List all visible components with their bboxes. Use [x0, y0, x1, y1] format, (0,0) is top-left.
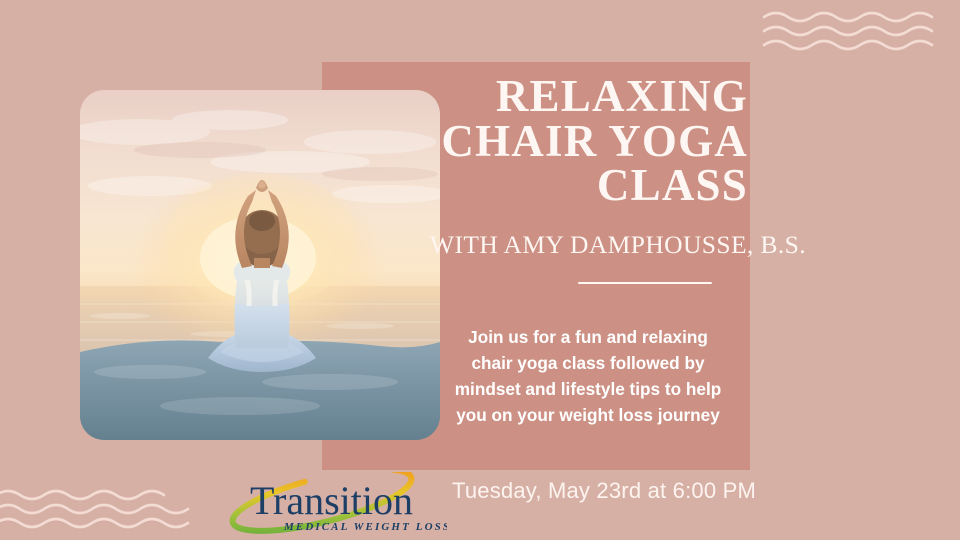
wave-decoration-top-right	[760, 8, 960, 54]
title-line-2: CHAIR YOGA	[430, 119, 748, 164]
divider-rule	[578, 282, 712, 284]
title-line-1: RELAXING	[430, 74, 748, 119]
text-column: RELAXING CHAIR YOGA CLASS WITH AMY DAMPH…	[430, 74, 752, 428]
logo-wordmark: Transition	[250, 478, 413, 523]
event-datetime: Tuesday, May 23rd at 6:00 PM	[452, 478, 756, 504]
flyer-canvas: RELAXING CHAIR YOGA CLASS WITH AMY DAMPH…	[0, 0, 960, 540]
description-text: Join us for a fun and relaxing chair yog…	[430, 324, 746, 429]
description-line-4: you on your weight loss journey	[430, 402, 746, 428]
description-line-3: mindset and lifestyle tips to help	[430, 376, 746, 402]
transition-logo: Transition MEDICAL WEIGHT LOSS	[222, 472, 447, 534]
title-line-3: CLASS	[430, 163, 748, 208]
logo-tagline: MEDICAL WEIGHT LOSS	[283, 521, 447, 533]
yoga-photo	[80, 90, 440, 440]
description-line-1: Join us for a fun and relaxing	[430, 324, 746, 350]
wave-decoration-bottom-left	[0, 486, 192, 532]
description-line-2: chair yoga class followed by	[430, 350, 746, 376]
page-title: RELAXING CHAIR YOGA CLASS	[430, 74, 752, 208]
instructor-subtitle: WITH AMY DAMPHOUSSE, B.S.	[430, 230, 752, 260]
